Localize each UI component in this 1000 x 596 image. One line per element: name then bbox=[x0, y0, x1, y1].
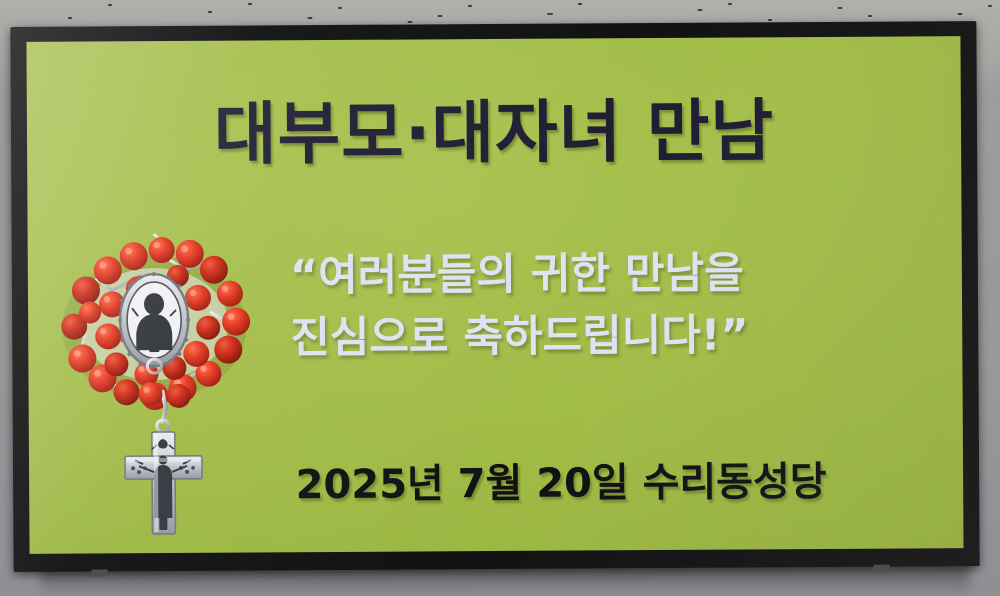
mount-tab-left bbox=[92, 569, 108, 576]
slide-content: 대부모·대자녀 만남 “여러분들의 귀한 만남을 진심으로 축하드립니다!” 2… bbox=[26, 36, 963, 554]
quote-line-1: “여러분들의 귀한 만남을 bbox=[290, 242, 890, 308]
quote-line-2: 진심으로 축하드립니다!” bbox=[290, 304, 890, 370]
slide-title: 대부모·대자녀 만남 bbox=[27, 74, 962, 179]
slide-footer-date: 2025년 7월 20일 수리동성당 bbox=[29, 448, 963, 512]
flat-panel-display[interactable]: 대부모·대자녀 만남 “여러분들의 귀한 만남을 진심으로 축하드립니다!” 2… bbox=[10, 21, 979, 572]
mount-tab-right bbox=[874, 565, 890, 572]
slide-quote: “여러분들의 귀한 만남을 진심으로 축하드립니다!” bbox=[290, 242, 891, 370]
